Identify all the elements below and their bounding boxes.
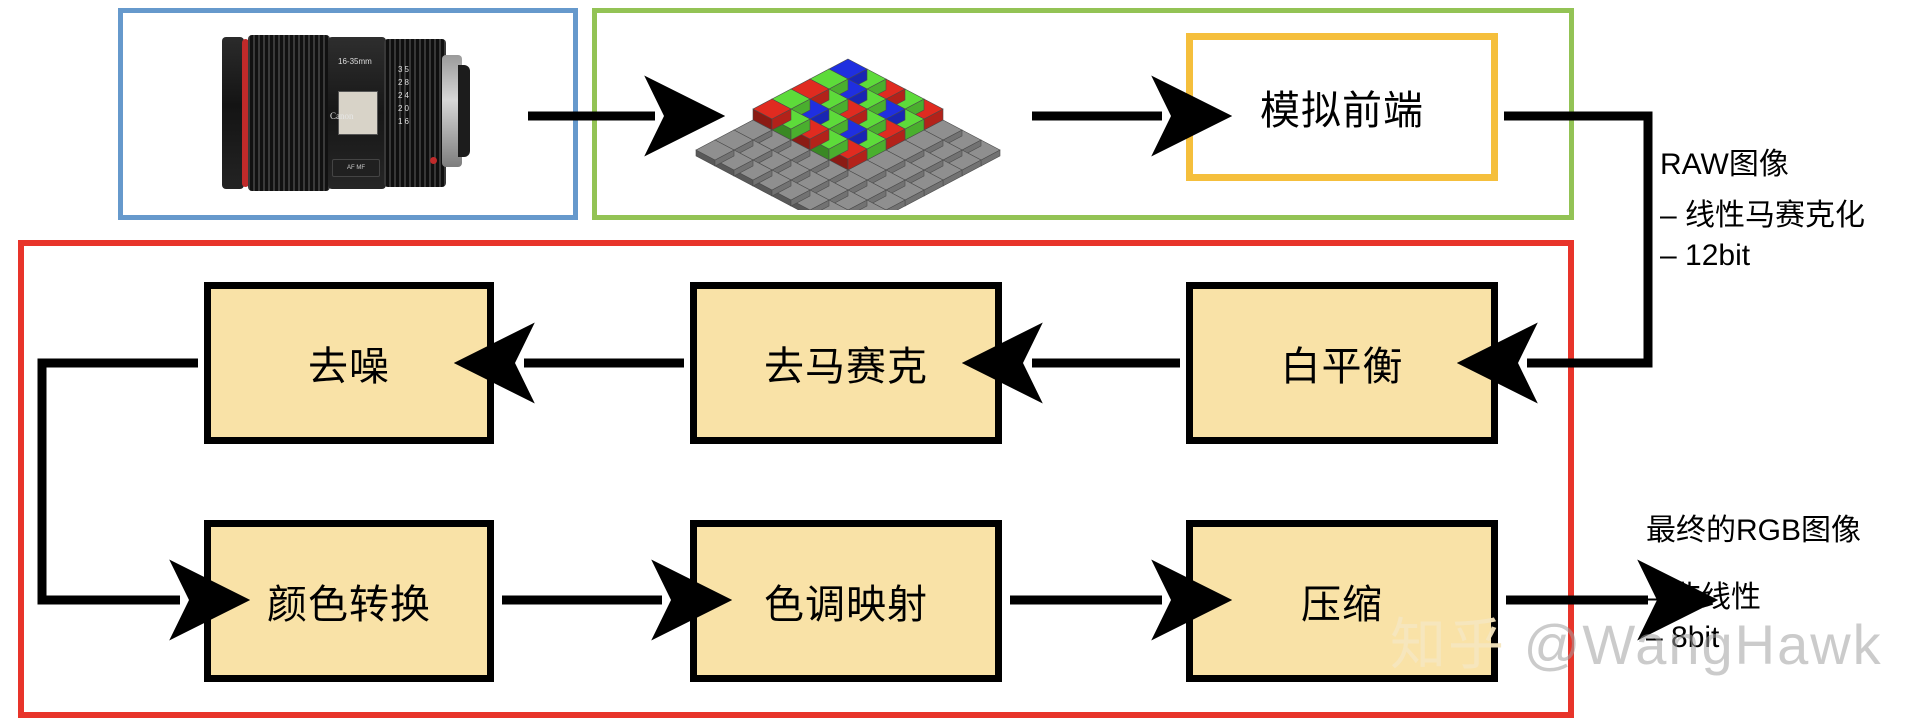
- annotation-bullets: – 非线性 – 8bit: [1646, 578, 1861, 658]
- annotation-heading: RAW图像: [1660, 146, 1865, 184]
- connector-layer: [0, 0, 1920, 724]
- diagram-canvas: 16-35mm Canon 3528242016 AF MF 模拟前端 去噪 去…: [0, 0, 1920, 724]
- annotation-raw-image: RAW图像 – 线性马赛克化 – 12bit: [1660, 146, 1865, 276]
- annotation-heading: 最终的RGB图像: [1646, 512, 1861, 550]
- annotation-bullet: – 8bit: [1646, 618, 1861, 658]
- arrow-afe-to-white-balance: [1504, 116, 1648, 363]
- annotation-bullet: – 非线性: [1646, 578, 1861, 618]
- annotation-bullets: – 线性马赛克化 – 12bit: [1660, 196, 1865, 276]
- annotation-bullet: – 线性马赛克化: [1660, 196, 1865, 236]
- annotation-bullet: – 12bit: [1660, 236, 1865, 276]
- arrow-denoise-to-color-conversion: [42, 363, 198, 600]
- annotation-final-rgb-image: 最终的RGB图像 – 非线性 – 8bit: [1646, 512, 1861, 658]
